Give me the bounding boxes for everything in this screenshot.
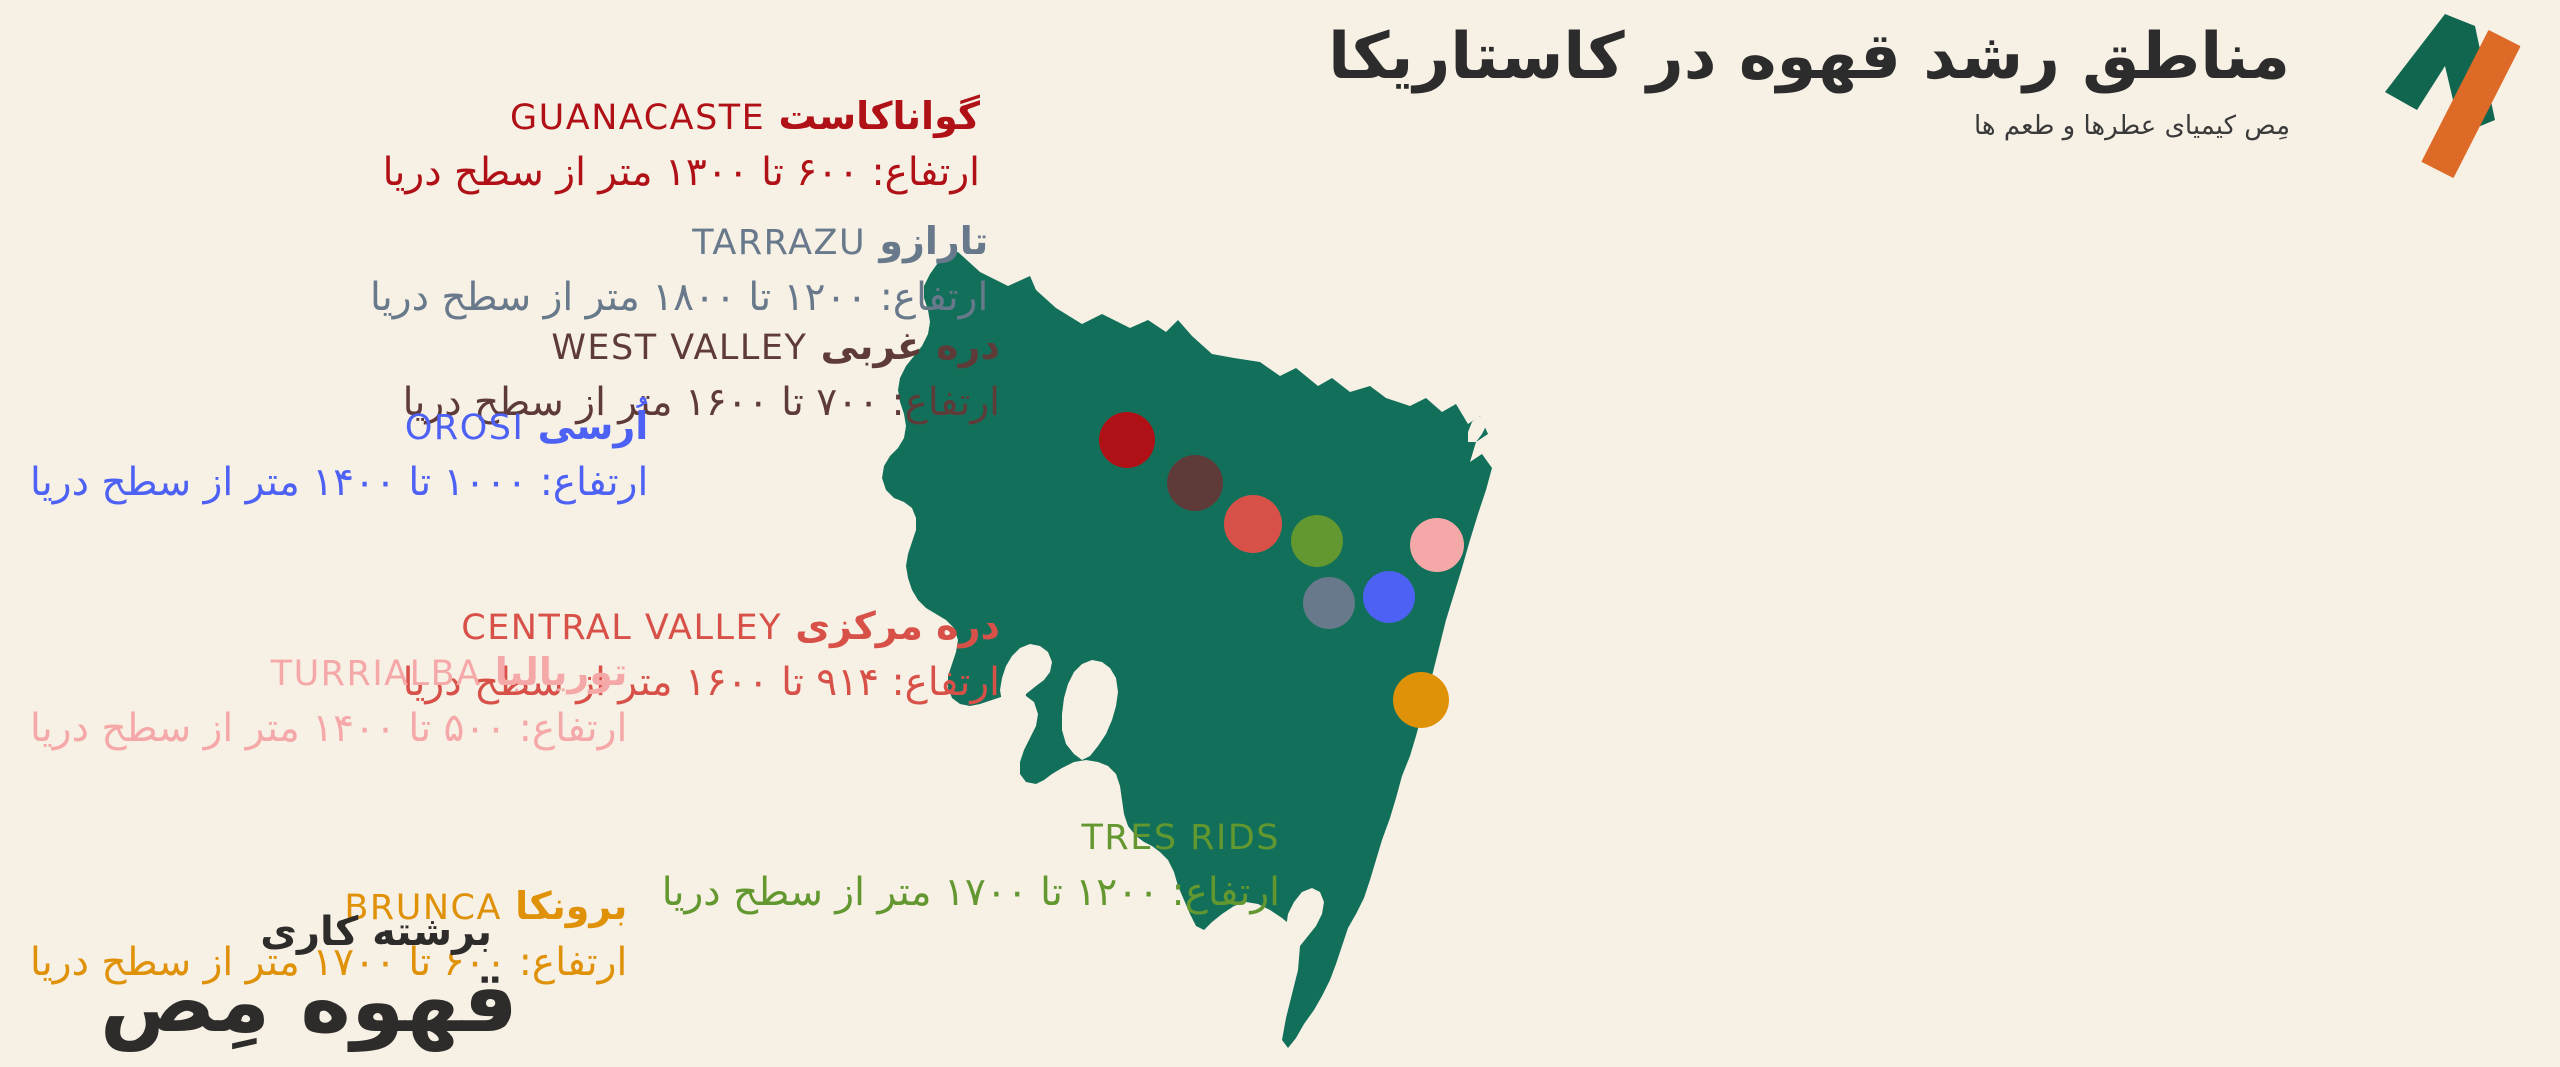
region-elevation-turrialba: ارتفاع: ۵۰۰ تا ۱۴۰۰ متر از سطح دریا [30,704,627,755]
page-subtitle: مِص کیمیای عطرها و طعم ها [1190,108,2290,144]
brand-logotype: برشته کاری قهوه مِص [38,910,518,1049]
region-elevation-tres-rios: ارتفاع: ۱۲۰۰ تا ۱۷۰۰ متر از سطح دریا [662,868,1280,919]
region-label-guanacaste: گواناکاست GUANACASTE ارتفاع: ۶۰۰ تا ۱۳۰۰… [383,92,980,198]
region-name-tres-rios: TRES RIDS [662,812,1280,862]
region-name-guanacaste: گواناکاست GUANACASTE [383,92,980,142]
region-name-west-valley: دره غربی WEST VALLEY [403,322,1000,372]
region-dot-turrialba[interactable] [1410,518,1464,572]
region-name-orosi: اُرسی OROSI [30,402,648,452]
region-dot-orosi[interactable] [1363,571,1415,623]
region-dot-west-valley[interactable] [1167,455,1223,511]
region-label-tarrazu: تارازو TARRAZU ارتفاع: ۱۲۰۰ تا ۱۸۰۰ متر … [370,217,988,323]
brand-line-2: قهوه مِص [38,956,518,1049]
mes-coffee-logo-icon [2383,8,2548,183]
region-label-orosi: اُرسی OROSI ارتفاع: ۱۰۰۰ تا ۱۴۰۰ متر از … [30,402,648,508]
region-elevation-tarrazu: ارتفاع: ۱۲۰۰ تا ۱۸۰۰ متر از سطح دریا [370,273,988,324]
brand-line-1: برشته کاری [38,910,518,954]
infographic-poster: مناطق رشد قهوه در کاستاریکا مِص کیمیای ع… [0,0,2560,1067]
region-name-tarrazu: تارازو TARRAZU [370,217,988,267]
region-label-turrialba: توریالبا TURRIALBA ارتفاع: ۵۰۰ تا ۱۴۰۰ م… [30,648,627,754]
header: مناطق رشد قهوه در کاستاریکا مِص کیمیای ع… [1190,18,2290,144]
region-dot-central-valley[interactable] [1224,495,1282,553]
region-name-central-valley: دره مرکزی CENTRAL VALLEY [403,602,1000,652]
region-label-tres-rios: TRES RIDS ارتفاع: ۱۲۰۰ تا ۱۷۰۰ متر از سط… [662,812,1280,918]
page-title: مناطق رشد قهوه در کاستاریکا [1190,18,2290,96]
region-dot-guanacaste[interactable] [1099,412,1155,468]
region-dot-tres-rios[interactable] [1291,515,1343,567]
region-dot-brunca[interactable] [1393,672,1449,728]
region-dot-tarrazu[interactable] [1303,577,1355,629]
region-name-turrialba: توریالبا TURRIALBA [30,648,627,698]
region-elevation-orosi: ارتفاع: ۱۰۰۰ تا ۱۴۰۰ متر از سطح دریا [30,458,648,509]
region-elevation-guanacaste: ارتفاع: ۶۰۰ تا ۱۳۰۰ متر از سطح دریا [383,148,980,199]
